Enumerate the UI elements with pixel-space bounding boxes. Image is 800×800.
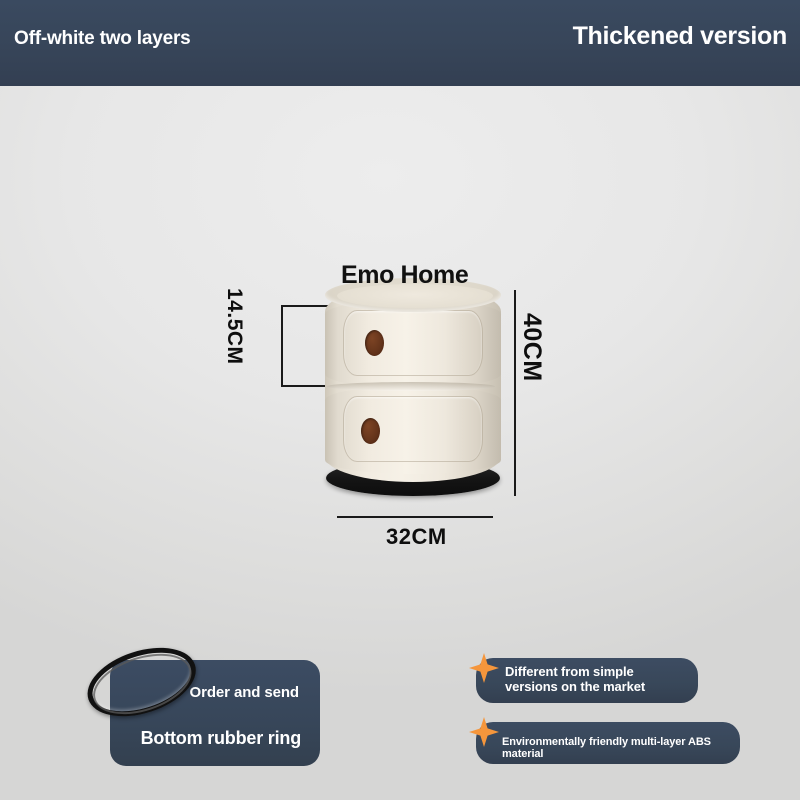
dimension-line-width bbox=[337, 516, 493, 518]
brand-label: Emo Home bbox=[341, 261, 468, 290]
drawer-seam bbox=[327, 382, 495, 391]
product-cabinet-image bbox=[323, 278, 503, 503]
header-version-label: Thickened version bbox=[573, 22, 787, 51]
header-variant-label: Off-white two layers bbox=[14, 28, 191, 50]
sparkle-icon bbox=[468, 716, 500, 748]
dimension-line-total-height bbox=[514, 290, 516, 496]
feature-badge-1: Different from simple versions on the ma… bbox=[476, 658, 698, 703]
header-bar: Off-white two layers Thickened version bbox=[0, 0, 800, 86]
drawer-handle-top bbox=[365, 330, 384, 356]
drawer-handle-bottom bbox=[361, 418, 380, 444]
sparkle-icon bbox=[468, 652, 500, 684]
dimension-label-total-height: 40CM bbox=[517, 313, 546, 382]
rubber-ring-badge-line2: Bottom rubber ring bbox=[141, 728, 301, 749]
feature-badge-2: Environmentally friendly multi-layer ABS… bbox=[476, 722, 740, 764]
dimension-label-width: 32CM bbox=[386, 524, 447, 550]
product-infographic: Off-white two layers Thickened version E… bbox=[0, 0, 800, 800]
dimension-label-drawer-height: 14.5CM bbox=[222, 288, 246, 365]
drawer-inset-groove bbox=[343, 310, 483, 376]
cabinet-drawer-top bbox=[325, 300, 501, 388]
cabinet-drawer-bottom bbox=[325, 386, 501, 474]
